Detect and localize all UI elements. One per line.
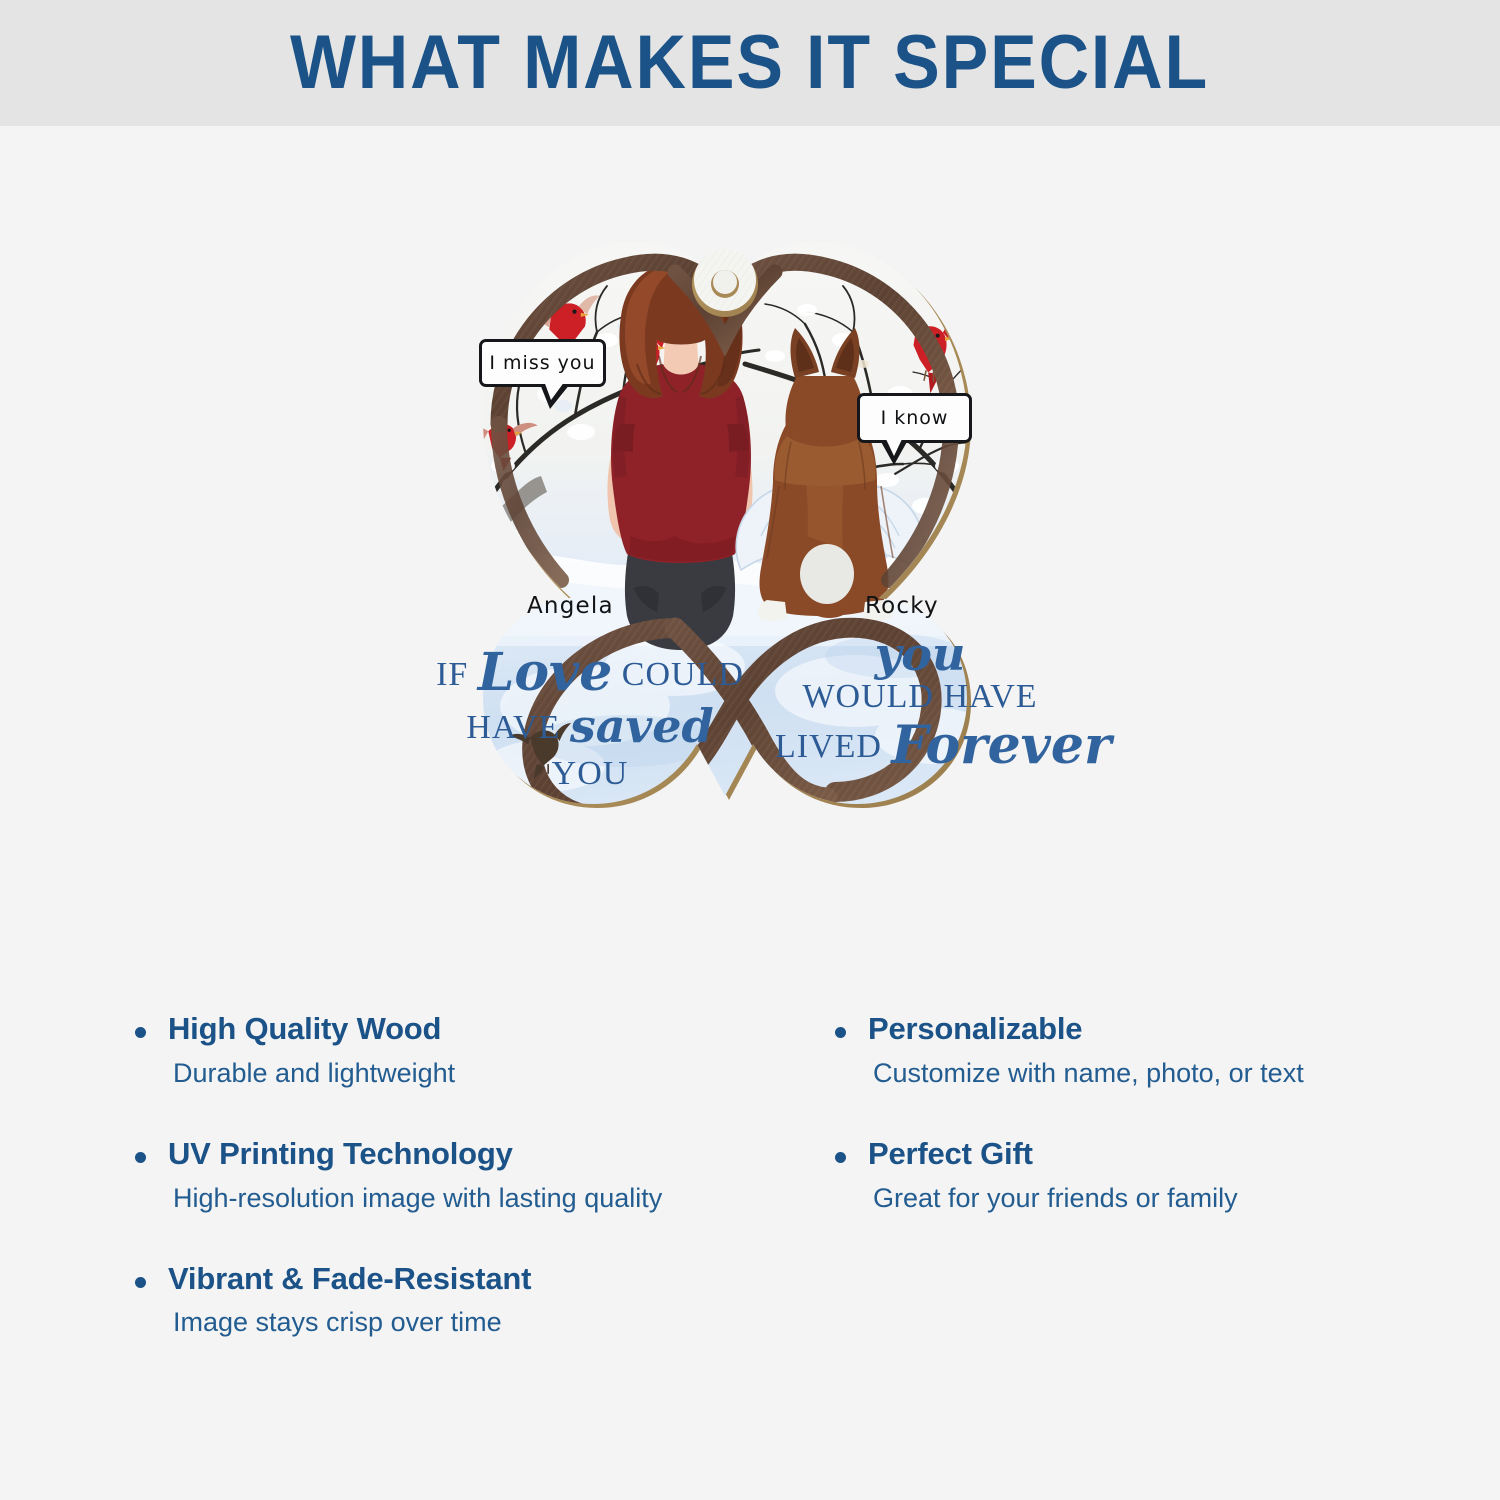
bullet-icon xyxy=(135,1027,146,1038)
feature-title: Personalizable xyxy=(868,1010,1448,1049)
feature-description: High-resolution image with lasting quali… xyxy=(173,1181,828,1216)
feature-column-right: Personalizable Customize with name, phot… xyxy=(828,1010,1448,1260)
product-stage: I miss you I know Angela Rocky IF Love C… xyxy=(0,126,1500,1006)
bullet-icon xyxy=(135,1277,146,1288)
feature-title: UV Printing Technology xyxy=(168,1135,828,1174)
feature-title: Perfect Gift xyxy=(868,1135,1448,1174)
feature-item: UV Printing Technology High-resolution i… xyxy=(128,1135,828,1216)
ornament-product-image[interactable]: I miss you I know Angela Rocky IF Love C… xyxy=(375,236,1075,916)
feature-item: Vibrant & Fade-Resistant Image stays cri… xyxy=(128,1260,828,1341)
feature-title: Vibrant & Fade-Resistant xyxy=(168,1260,828,1299)
bullet-icon xyxy=(835,1152,846,1163)
bullet-icon xyxy=(835,1027,846,1038)
feature-list: High Quality Wood Durable and lightweigh… xyxy=(0,1010,1500,1460)
feature-item: Personalizable Customize with name, phot… xyxy=(828,1010,1448,1091)
feature-title: High Quality Wood xyxy=(168,1010,828,1049)
feature-description: Customize with name, photo, or text xyxy=(873,1056,1448,1091)
feature-description: Image stays crisp over time xyxy=(173,1305,828,1340)
feature-description: Great for your friends or family xyxy=(873,1181,1448,1216)
bullet-icon xyxy=(135,1152,146,1163)
ornament-face xyxy=(375,236,1075,916)
page-header: WHAT MAKES IT SPECIAL xyxy=(0,0,1500,126)
feature-description: Durable and lightweight xyxy=(173,1056,828,1091)
page-title: WHAT MAKES IT SPECIAL xyxy=(290,25,1209,101)
feature-item: Perfect Gift Great for your friends or f… xyxy=(828,1135,1448,1216)
ornament-artwork xyxy=(375,236,1075,916)
feature-item: High Quality Wood Durable and lightweigh… xyxy=(128,1010,828,1091)
feature-column-left: High Quality Wood Durable and lightweigh… xyxy=(128,1010,828,1385)
ornament-hanging-tab xyxy=(692,249,758,317)
